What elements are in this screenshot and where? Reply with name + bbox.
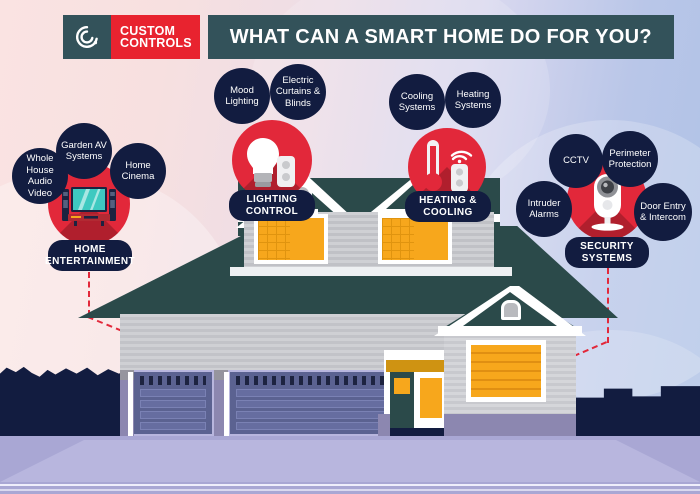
upper-window-left (254, 214, 328, 264)
bubble-cctv[interactable]: CCTV (549, 134, 603, 188)
infographic-canvas: CUSTOM CONTROLS WHAT CAN A SMART HOME DO… (0, 0, 700, 494)
driveway (0, 440, 700, 482)
logo-wordmark: CUSTOM CONTROLS (111, 15, 200, 59)
bubble-label: Electric Curtains & Blinds (276, 75, 320, 110)
pill-heating-cooling[interactable]: HEATING & COOLING (405, 191, 491, 222)
kerb-line (0, 484, 700, 486)
garage-door-single[interactable] (134, 372, 212, 434)
bubble-label: Door Entry & Intercom (640, 201, 686, 224)
lighting-control-hub[interactable] (232, 120, 312, 200)
pill-home-entertainment[interactable]: HOME ENTERTAINMENT (48, 240, 132, 271)
bubble-door-entry-intercom[interactable]: Door Entry & Intercom (634, 183, 692, 241)
pill-label: SECURITY SYSTEMS (580, 241, 634, 264)
pill-lighting-control[interactable]: LIGHTING CONTROL (229, 190, 315, 221)
right-wing (440, 286, 580, 436)
garage-trim (128, 372, 133, 436)
sidelight-window (420, 378, 442, 418)
bubble-label: CCTV (563, 155, 589, 167)
logo-line-2: CONTROLS (120, 37, 192, 50)
entry-ramp (378, 414, 390, 436)
bubble-perimeter-protection[interactable]: Perimeter Protection (602, 131, 658, 187)
pill-label: LIGHTING CONTROL (246, 194, 298, 217)
bubble-home-cinema[interactable]: Home Cinema (110, 143, 166, 199)
pill-label: HOME ENTERTAINMENT (45, 244, 135, 267)
bubble-label: Heating Systems (455, 89, 491, 112)
ground-driveway (0, 436, 700, 494)
bubble-label: Home Cinema (122, 160, 155, 183)
bubble-heating-systems[interactable]: Heating Systems (445, 72, 501, 128)
kerb-line (0, 489, 700, 491)
pill-security-systems[interactable]: SECURITY SYSTEMS (565, 237, 649, 268)
bubble-label: Garden AV Systems (61, 140, 107, 163)
garage-vent-strip (140, 376, 206, 385)
wing-fascia (438, 326, 582, 336)
wing-attic-vent-icon (501, 300, 521, 320)
bubble-label: Whole House Audio Video (26, 153, 53, 199)
fascia-lower (230, 267, 512, 276)
wing-base (444, 414, 576, 436)
bubble-mood-lighting[interactable]: Mood Lighting (214, 68, 270, 124)
front-door[interactable] (390, 372, 414, 430)
bubble-label: Intruder Alarms (528, 198, 561, 221)
header-bar: CUSTOM CONTROLS WHAT CAN A SMART HOME DO… (63, 15, 674, 59)
bubble-electric-curtains-blinds[interactable]: Electric Curtains & Blinds (270, 64, 326, 120)
lightbulb-switch-icon (232, 120, 312, 200)
bubble-cooling-systems[interactable]: Cooling Systems (389, 74, 445, 130)
bubble-label: Mood Lighting (225, 85, 258, 108)
page-title: WHAT CAN A SMART HOME DO FOR YOU? (208, 15, 674, 59)
bubble-label: Perimeter Protection (609, 148, 652, 171)
custom-controls-circle-logo-icon (63, 15, 111, 59)
pill-label: HEATING & COOLING (419, 195, 477, 218)
wing-window (466, 340, 546, 402)
bubble-garden-av-systems[interactable]: Garden AV Systems (56, 123, 112, 179)
bubble-label: Cooling Systems (399, 91, 435, 114)
garage-trim (224, 372, 229, 436)
bubble-intruder-alarms[interactable]: Intruder Alarms (516, 181, 572, 237)
